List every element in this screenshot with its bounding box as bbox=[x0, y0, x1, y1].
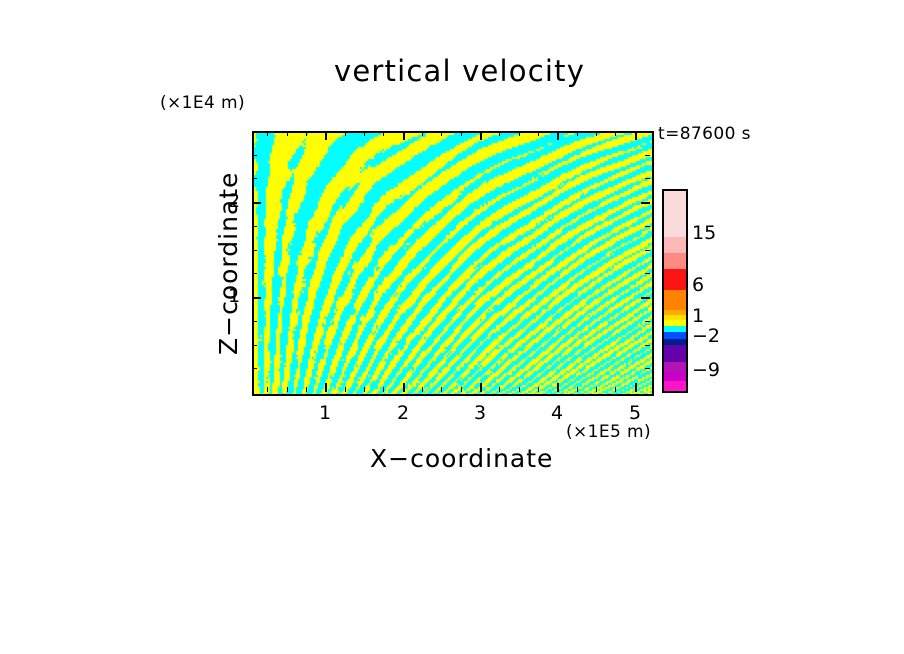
x-tick-label: 2 bbox=[391, 402, 415, 424]
colorbar-band bbox=[664, 381, 686, 391]
x-axis-title: X−coordinate bbox=[370, 444, 553, 473]
x-minor-tick bbox=[345, 387, 346, 392]
y-tick-label: 2 bbox=[222, 190, 246, 212]
colorbar-tick-label: −9 bbox=[692, 359, 720, 381]
y-major-tick bbox=[252, 297, 261, 299]
x-major-tick bbox=[403, 383, 405, 392]
y-minor-tick bbox=[252, 368, 257, 369]
colorbar-band bbox=[664, 191, 686, 237]
x-minor-tick-top bbox=[306, 131, 307, 136]
x-major-tick-top bbox=[557, 131, 559, 140]
x-minor-tick bbox=[383, 387, 384, 392]
page-title: vertical velocity bbox=[334, 54, 585, 88]
y-minor-tick-right bbox=[645, 273, 650, 274]
x-minor-tick-top bbox=[538, 131, 539, 136]
colorbar-tick-label: 1 bbox=[692, 305, 704, 327]
colorbar-band bbox=[664, 362, 686, 372]
x-minor-tick-top bbox=[577, 131, 578, 136]
y-tick-label: 1 bbox=[222, 285, 246, 307]
y-minor-tick-right bbox=[645, 250, 650, 251]
colorbar-band bbox=[664, 253, 686, 269]
colorbar-tick-label: 15 bbox=[692, 222, 716, 244]
x-major-tick-top bbox=[325, 131, 327, 140]
x-minor-tick bbox=[519, 387, 520, 392]
colorbar-band bbox=[664, 339, 686, 346]
x-minor-tick-top bbox=[422, 131, 423, 136]
y-minor-tick bbox=[252, 273, 257, 274]
colorbar-tick-label: 6 bbox=[692, 274, 704, 296]
colorbar-tick-label: −2 bbox=[692, 325, 720, 347]
y-minor-tick bbox=[252, 226, 257, 227]
x-minor-tick bbox=[441, 387, 442, 392]
x-minor-tick bbox=[364, 387, 365, 392]
y-minor-tick-right bbox=[645, 345, 650, 346]
y-minor-tick bbox=[252, 155, 257, 156]
y-minor-tick-right bbox=[645, 321, 650, 322]
x-minor-tick-top bbox=[267, 131, 268, 136]
x-tick-label: 5 bbox=[623, 402, 647, 424]
x-minor-tick bbox=[287, 387, 288, 392]
x-minor-tick-top bbox=[364, 131, 365, 136]
x-minor-tick bbox=[538, 387, 539, 392]
y-minor-tick bbox=[252, 178, 257, 179]
x-minor-tick-top bbox=[615, 131, 616, 136]
x-major-tick bbox=[635, 383, 637, 392]
x-axis-units-label: (×1E5 m) bbox=[566, 422, 651, 442]
y-axis-units-label: (×1E4 m) bbox=[160, 93, 245, 113]
time-stamp-label: t=87600 s bbox=[658, 124, 751, 144]
x-tick-label: 4 bbox=[545, 402, 569, 424]
x-minor-tick bbox=[461, 387, 462, 392]
x-minor-tick bbox=[422, 387, 423, 392]
velocity-field-image bbox=[254, 133, 652, 394]
y-minor-tick-right bbox=[645, 178, 650, 179]
y-minor-tick bbox=[252, 345, 257, 346]
x-minor-tick-top bbox=[596, 131, 597, 136]
y-minor-tick-right bbox=[645, 368, 650, 369]
x-minor-tick-top bbox=[499, 131, 500, 136]
x-minor-tick bbox=[499, 387, 500, 392]
x-minor-tick bbox=[615, 387, 616, 392]
x-minor-tick-top bbox=[383, 131, 384, 136]
y-major-tick-right bbox=[641, 297, 650, 299]
y-minor-tick bbox=[252, 250, 257, 251]
x-minor-tick-top bbox=[441, 131, 442, 136]
colorbar-band bbox=[664, 290, 686, 310]
x-minor-tick-top bbox=[461, 131, 462, 136]
colorbar-band bbox=[664, 332, 686, 339]
x-minor-tick bbox=[577, 387, 578, 392]
x-minor-tick bbox=[306, 387, 307, 392]
y-minor-tick-right bbox=[645, 155, 650, 156]
x-major-tick-top bbox=[403, 131, 405, 140]
x-minor-tick bbox=[267, 387, 268, 392]
x-minor-tick bbox=[596, 387, 597, 392]
y-major-tick-right bbox=[641, 202, 650, 204]
y-minor-tick-right bbox=[645, 226, 650, 227]
x-major-tick bbox=[557, 383, 559, 392]
colorbar-band bbox=[664, 237, 686, 253]
colorbar-band bbox=[664, 372, 686, 382]
x-tick-label: 1 bbox=[313, 402, 337, 424]
x-major-tick bbox=[480, 383, 482, 392]
colorbar bbox=[662, 189, 688, 393]
x-minor-tick-top bbox=[519, 131, 520, 136]
x-major-tick-top bbox=[480, 131, 482, 140]
x-minor-tick-top bbox=[287, 131, 288, 136]
figure-canvas: vertical velocity (×1E4 m) t=87600 s Z−c… bbox=[0, 0, 904, 654]
colorbar-band bbox=[664, 269, 686, 290]
y-major-tick bbox=[252, 202, 261, 204]
x-minor-tick-top bbox=[345, 131, 346, 136]
plot-area bbox=[252, 131, 654, 396]
colorbar-band bbox=[664, 345, 686, 362]
x-major-tick-top bbox=[635, 131, 637, 140]
x-tick-label: 3 bbox=[468, 402, 492, 424]
x-major-tick bbox=[325, 383, 327, 392]
y-minor-tick bbox=[252, 321, 257, 322]
